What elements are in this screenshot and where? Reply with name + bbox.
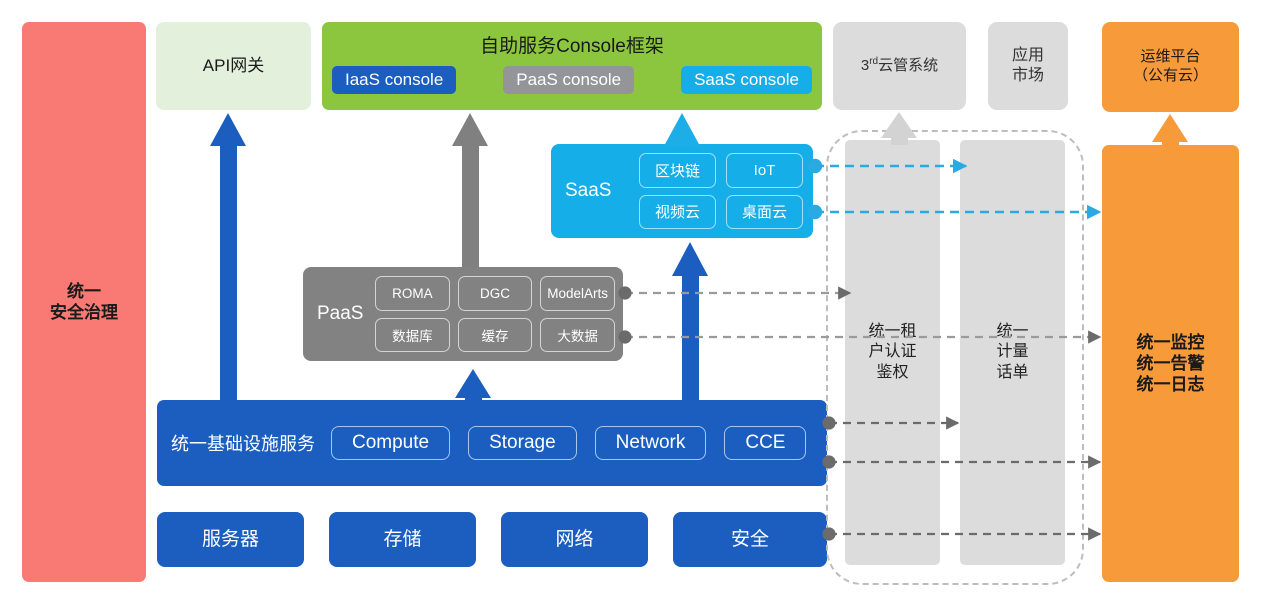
paas-item-bigdata[interactable]: 大数据 xyxy=(540,318,615,353)
infra-item-network[interactable]: Network xyxy=(595,426,707,460)
saas-item-blockchain[interactable]: 区块链 xyxy=(639,153,716,188)
security-line-1: 统一 xyxy=(50,281,118,302)
architecture-diagram: 统一 安全治理 API网关 自助服务Console框架 IaaS console… xyxy=(0,0,1265,605)
box-unified-infrastructure-services: 统一基础设施服务 Compute Storage Network CCE xyxy=(157,400,827,486)
saas-label: SaaS xyxy=(565,180,611,202)
box-ops-platform-public-cloud: 运维平台 （公有云） xyxy=(1102,22,1239,112)
security-line-2: 安全治理 xyxy=(50,302,118,323)
infra-item-storage[interactable]: Storage xyxy=(468,426,577,460)
app-market-line-2: 市场 xyxy=(1012,66,1044,86)
auth-text: 统一租 户认证 鉴权 xyxy=(845,321,940,383)
third-party-label: 云管系统 xyxy=(878,57,938,74)
panel-unified-security-governance: 统一 安全治理 xyxy=(22,22,146,582)
box-hardware-security: 安全 xyxy=(673,512,827,567)
infra-item-compute[interactable]: Compute xyxy=(331,426,450,460)
console-chip-row: IaaS console PaaS console SaaS console xyxy=(332,66,812,94)
paas-label: PaaS xyxy=(317,303,363,325)
third-party-prefix: 3 xyxy=(861,57,869,74)
saas-item-video-cloud[interactable]: 视频云 xyxy=(639,195,716,230)
box-hardware-network: 网络 xyxy=(501,512,648,567)
console-title: 自助服务Console框架 xyxy=(322,31,822,58)
hardware-server-label: 服务器 xyxy=(202,528,259,552)
ops-panel-line-3: 统一日志 xyxy=(1137,374,1205,395)
arrow-ops-panel-to-platform xyxy=(1152,114,1188,147)
auth-line-2: 户认证 xyxy=(845,342,940,363)
arrow-paas-to-console xyxy=(452,113,488,267)
app-market-line-1: 应用 xyxy=(1012,46,1044,66)
hardware-storage-label: 存储 xyxy=(383,528,421,552)
panel-unified-monitoring-alarm-log: 统一监控 统一告警 统一日志 xyxy=(1102,145,1239,582)
auth-line-1: 统一租 xyxy=(845,321,940,342)
saas-item-desktop-cloud[interactable]: 桌面云 xyxy=(726,195,803,230)
arrow-infra-to-api-gateway xyxy=(210,113,246,400)
column-unified-metering-billing: 统一 计量 话单 xyxy=(960,140,1065,565)
third-party-superscript: rd xyxy=(869,56,878,67)
infrastructure-label: 统一基础设施服务 xyxy=(171,430,315,456)
box-paas: PaaS ROMA DGC ModelArts 数据库 缓存 大数据 xyxy=(303,267,623,361)
box-third-party-cloud-management: 3rd云管系统 xyxy=(833,22,966,110)
paas-service-grid: ROMA DGC ModelArts 数据库 缓存 大数据 xyxy=(375,276,615,352)
infra-item-cce[interactable]: CCE xyxy=(724,426,806,460)
paas-item-dgc[interactable]: DGC xyxy=(458,276,533,311)
billing-line-3: 话单 xyxy=(960,363,1065,384)
box-saas: SaaS 区块链 IoT 视频云 桌面云 xyxy=(551,144,813,238)
infrastructure-chip-row: Compute Storage Network CCE xyxy=(331,426,806,460)
paas-item-cache[interactable]: 缓存 xyxy=(458,318,533,353)
column-unified-tenant-auth: 统一租 户认证 鉴权 xyxy=(845,140,940,565)
box-api-gateway: API网关 xyxy=(156,22,311,110)
box-self-service-console-framework: 自助服务Console框架 IaaS console PaaS console … xyxy=(322,22,822,110)
hardware-security-label: 安全 xyxy=(731,528,769,552)
ops-platform-line-1: 运维平台 xyxy=(1133,48,1208,67)
billing-text: 统一 计量 话单 xyxy=(960,321,1065,383)
auth-line-3: 鉴权 xyxy=(845,363,940,384)
box-app-market: 应用 市场 xyxy=(988,22,1068,110)
billing-line-2: 计量 xyxy=(960,342,1065,363)
ops-panel-line-2: 统一告警 xyxy=(1137,353,1205,374)
billing-line-1: 统一 xyxy=(960,321,1065,342)
api-gateway-label: API网关 xyxy=(203,55,264,76)
paas-item-modelarts[interactable]: ModelArts xyxy=(540,276,615,311)
arrow-infra-to-saas xyxy=(672,242,708,400)
ops-panel-line-1: 统一监控 xyxy=(1137,332,1205,353)
arrow-infra-to-paas xyxy=(455,369,491,403)
chip-iaas-console[interactable]: IaaS console xyxy=(332,66,456,94)
paas-item-roma[interactable]: ROMA xyxy=(375,276,450,311)
ops-platform-line-2: （公有云） xyxy=(1133,67,1208,86)
chip-paas-console[interactable]: PaaS console xyxy=(503,66,634,94)
chip-saas-console[interactable]: SaaS console xyxy=(681,66,812,94)
saas-service-grid: 区块链 IoT 视频云 桌面云 xyxy=(639,153,803,229)
arrow-saas-to-console xyxy=(664,113,700,147)
paas-item-database[interactable]: 数据库 xyxy=(375,318,450,353)
saas-item-iot[interactable]: IoT xyxy=(726,153,803,188)
hardware-network-label: 网络 xyxy=(555,528,593,552)
box-hardware-server: 服务器 xyxy=(157,512,304,567)
box-hardware-storage: 存储 xyxy=(329,512,476,567)
